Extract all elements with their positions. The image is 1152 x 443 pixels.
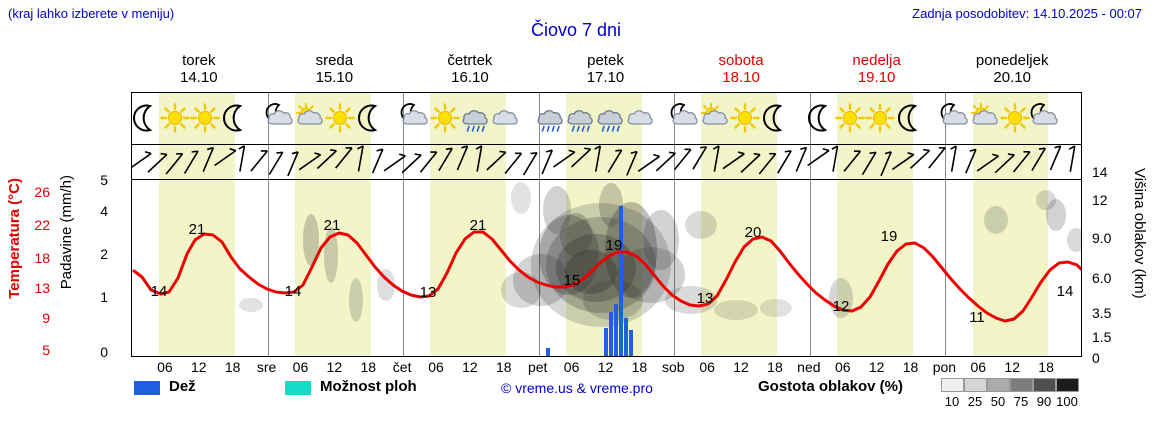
chart-legend: Dež Možnost ploh © vreme.us & vreme.pro … [131, 380, 1082, 420]
weather-icon-sun-cloud [295, 103, 325, 137]
weather-icon-moon [760, 103, 790, 137]
page-title: Čiovo 7 dni [0, 20, 1152, 41]
svg-text:15: 15 [564, 272, 581, 289]
weather-icon-cloud-rain [595, 103, 625, 137]
location-menu-note: (kraj lahko izberete v meniju) [8, 6, 174, 21]
weather-icon-sun [730, 103, 760, 137]
weather-icon-moon [355, 103, 385, 137]
temperature-tick: 13 [24, 280, 50, 296]
cloud-height-tick: 3.5 [1092, 305, 1138, 321]
forecast-plot: 1421142113211519132012191114 [131, 92, 1082, 357]
cloud-density-legend-title: Gostota oblakov (%) [758, 378, 903, 395]
svg-text:14: 14 [151, 283, 168, 300]
weather-icon-cloud [490, 103, 520, 137]
svg-text:19: 19 [606, 237, 623, 254]
cloud-height-tick: 6.0 [1092, 270, 1138, 286]
day-header-6: nedelja19.10 [809, 52, 945, 86]
last-update-note: Zadnja posodobitev: 14.10.2025 - 00:07 [912, 6, 1142, 21]
day-name: sreda [267, 52, 403, 69]
day-date: 17.10 [538, 69, 674, 86]
weather-icon-sun [865, 103, 895, 137]
day-header-3: četrtek16.10 [402, 52, 538, 86]
showers-legend-label: Možnost ploh [320, 378, 417, 395]
svg-text:13: 13 [420, 284, 437, 301]
weather-icon-sun [1000, 103, 1030, 137]
weather-icon-moon-cloud [400, 103, 430, 137]
copyright-text[interactable]: © vreme.us & vreme.pro [501, 380, 653, 396]
cloud-density-swatch [964, 378, 987, 392]
weather-icon-sun-cloud [970, 103, 1000, 137]
temperature-tick: 9 [24, 310, 50, 326]
temperature-tick: 26 [24, 184, 50, 200]
day-header-4: petek17.10 [538, 52, 674, 86]
weather-icon-sun-cloud [700, 103, 730, 137]
day-header-2: sreda15.10 [267, 52, 403, 86]
weather-icon-moon [895, 103, 925, 137]
cloud-height-tick: 9.0 [1092, 230, 1138, 246]
day-date: 14.10 [131, 69, 267, 86]
precipitation-tick: 5 [84, 172, 108, 188]
temperature-axis-title: Temperatura (°C) [6, 178, 23, 299]
day-name: nedelja [809, 52, 945, 69]
weather-icon-cloud [625, 103, 655, 137]
svg-text:14: 14 [285, 283, 302, 300]
cloud-density-swatch [987, 378, 1010, 392]
weather-icon-moon-cloud [670, 103, 700, 137]
svg-text:21: 21 [189, 221, 206, 238]
day-header-5: sobota18.10 [673, 52, 809, 86]
cloud-density-swatch [1010, 378, 1033, 392]
day-date: 18.10 [673, 69, 809, 86]
day-name: petek [538, 52, 674, 69]
x-tick-label: 18 [1026, 359, 1066, 375]
cloud-height-tick: 1.5 [1092, 329, 1138, 345]
weather-icon-moon-cloud [1030, 103, 1060, 137]
cloud-height-tick: 14 [1092, 164, 1138, 180]
day-name: sobota [673, 52, 809, 69]
data-plot-layer: 1421142113211519132012191114 [132, 180, 1081, 356]
day-header-1: torek14.10 [131, 52, 267, 86]
weather-icon-moon-cloud [265, 103, 295, 137]
cloud-density-swatch [1033, 378, 1056, 392]
day-date: 19.10 [809, 69, 945, 86]
weather-icon-moon [130, 103, 160, 137]
svg-text:13: 13 [697, 290, 714, 307]
weather-icon-cloud-rain [535, 103, 565, 137]
weather-icon-moon [220, 103, 250, 137]
cloud-density-value: 100 [1054, 394, 1080, 409]
svg-text:20: 20 [745, 224, 762, 241]
weather-icon-moon-cloud [940, 103, 970, 137]
weather-icon-sun [430, 103, 460, 137]
rain-legend-swatch [134, 381, 160, 395]
precipitation-tick: 4 [84, 203, 108, 219]
weather-icon-moon [805, 103, 835, 137]
day-header-7: ponedeljek20.10 [944, 52, 1080, 86]
day-date: 16.10 [402, 69, 538, 86]
temperature-tick: 18 [24, 250, 50, 266]
svg-text:21: 21 [470, 217, 487, 234]
weather-icon-cloud-rain [460, 103, 490, 137]
weather-icon-sun [160, 103, 190, 137]
temperature-tick: 22 [24, 217, 50, 233]
cloud-height-tick: 0 [1092, 350, 1138, 366]
day-name: četrtek [402, 52, 538, 69]
day-date: 20.10 [944, 69, 1080, 86]
wind-barb-row [132, 144, 1081, 179]
svg-text:19: 19 [881, 228, 898, 245]
precipitation-axis-title: Padavine (mm/h) [58, 175, 75, 289]
showers-legend-swatch [285, 381, 311, 395]
cloud-height-tick: 12 [1092, 192, 1138, 208]
day-name: torek [131, 52, 267, 69]
cloud-density-swatch [941, 378, 964, 392]
precipitation-tick: 0 [84, 344, 108, 360]
temperature-tick: 5 [24, 342, 50, 358]
weather-icon-cloud-rain [565, 103, 595, 137]
precipitation-tick: 2 [84, 246, 108, 262]
svg-text:11: 11 [969, 309, 985, 326]
weather-icon-sun [325, 103, 355, 137]
day-name: ponedeljek [944, 52, 1080, 69]
precipitation-tick: 1 [84, 289, 108, 305]
weather-icon-sun [190, 103, 220, 137]
cloud-density-swatch [1056, 378, 1079, 392]
day-date: 15.10 [267, 69, 403, 86]
rain-legend-label: Dež [169, 378, 196, 395]
weather-icon-sun [835, 103, 865, 137]
svg-text:12: 12 [833, 298, 850, 315]
svg-text:21: 21 [324, 217, 341, 234]
svg-text:14: 14 [1057, 283, 1074, 300]
